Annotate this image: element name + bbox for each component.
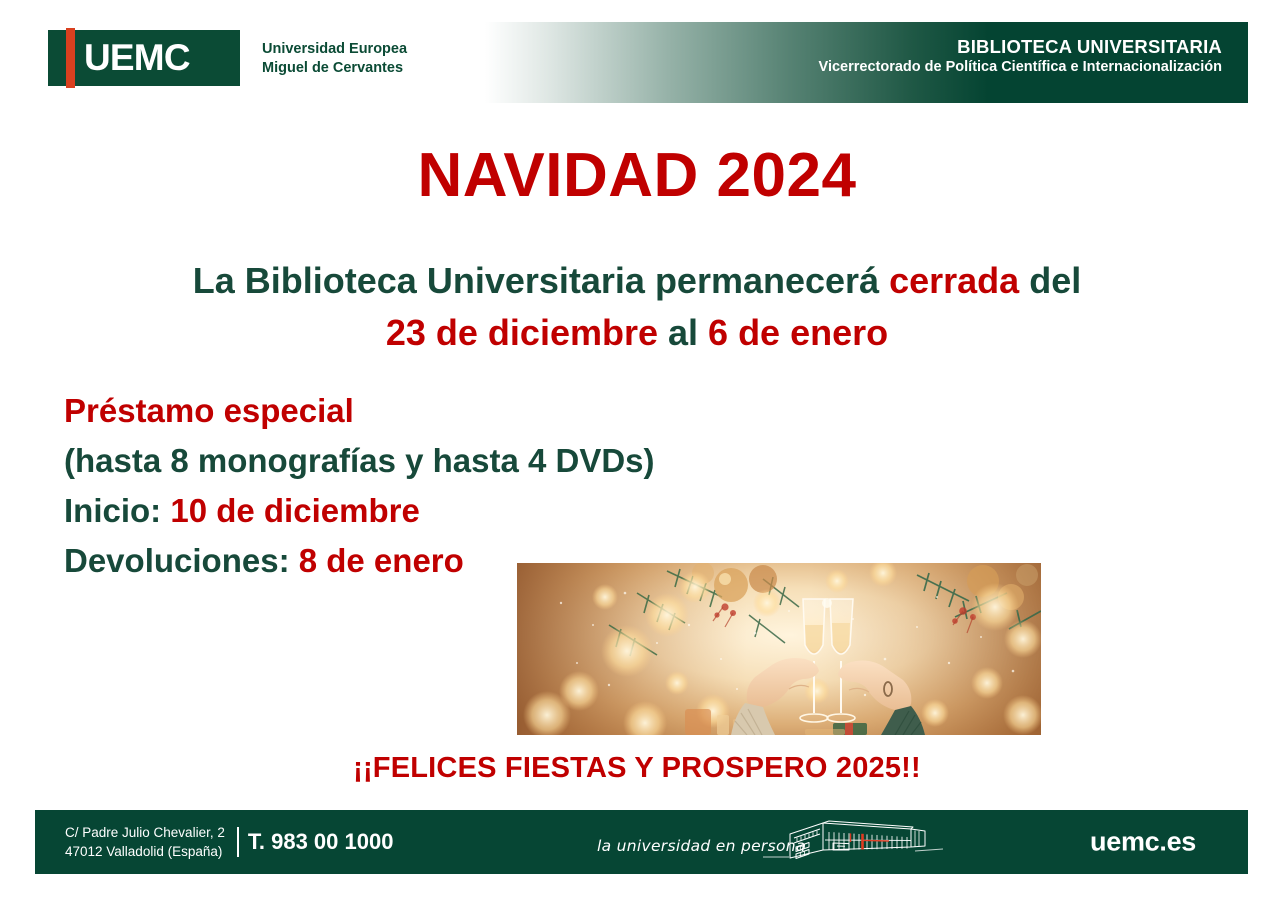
uemc-tagline-line-1: Universidad Europea bbox=[262, 40, 407, 59]
christmas-toast-photo bbox=[517, 563, 1041, 735]
footer-address-line-1: C/ Padre Julio Chevalier, 2 bbox=[65, 823, 225, 842]
uemc-logo[interactable]: UEMC bbox=[48, 30, 240, 86]
logo-green-bar-icon bbox=[52, 30, 59, 86]
logo-red-bar-icon bbox=[66, 28, 75, 88]
footer-phone-number: 983 00 1000 bbox=[271, 829, 393, 854]
holiday-greeting: ¡¡FELICES FIESTAS Y PROSPERO 2025!! bbox=[0, 752, 1274, 785]
closure-end-date: 6 de enero bbox=[708, 312, 888, 353]
loan-start-row: Inicio: 10 de diciembre bbox=[64, 486, 655, 536]
uemc-wordmark: UEMC bbox=[84, 37, 190, 79]
loan-start-label: Inicio: bbox=[64, 492, 170, 529]
footer-address-line-2: 47012 Valladolid (España) bbox=[65, 842, 225, 861]
header-title-sub: Vicerrectorado de Política Científica e … bbox=[819, 59, 1222, 76]
closure-line1-text-a: La Biblioteca Universitaria permanecerá bbox=[193, 260, 889, 301]
poster-canvas: BIBLIOTECA UNIVERSITARIA Vicerrectorado … bbox=[0, 0, 1274, 899]
footer-divider bbox=[237, 827, 239, 857]
closure-line-2: 23 de diciembre al 6 de enero bbox=[0, 307, 1274, 359]
loan-limits: (hasta 8 monografías y hasta 4 DVDs) bbox=[64, 436, 655, 486]
header-title-main: BIBLIOTECA UNIVERSITARIA bbox=[819, 36, 1222, 58]
closure-notice: La Biblioteca Universitaria permanecerá … bbox=[0, 255, 1274, 359]
loan-return-value: 8 de enero bbox=[299, 542, 464, 579]
uemc-tagline-line-2: Miguel de Cervantes bbox=[262, 59, 407, 78]
campus-building-icon bbox=[763, 820, 943, 868]
loan-heading: Préstamo especial bbox=[64, 386, 655, 436]
closure-date-connector: al bbox=[658, 312, 708, 353]
footer-address: C/ Padre Julio Chevalier, 2 47012 Vallad… bbox=[65, 823, 225, 861]
loan-start-value: 10 de diciembre bbox=[170, 492, 419, 529]
closure-line-1: La Biblioteca Universitaria permanecerá … bbox=[0, 255, 1274, 307]
closure-line1-text-b: del bbox=[1019, 260, 1081, 301]
loan-return-label: Devoluciones: bbox=[64, 542, 299, 579]
uemc-logo-box: UEMC bbox=[48, 30, 240, 86]
loan-details: Préstamo especial (hasta 8 monografías y… bbox=[64, 386, 655, 587]
page-title: NAVIDAD 2024 bbox=[0, 140, 1274, 211]
footer-phone-prefix: T. bbox=[248, 829, 265, 854]
uemc-logo-tagline: Universidad Europea Miguel de Cervantes bbox=[262, 40, 407, 77]
closure-line1-highlight: cerrada bbox=[889, 260, 1019, 301]
closure-start-date: 23 de diciembre bbox=[386, 312, 658, 353]
footer-phone[interactable]: T. 983 00 1000 bbox=[248, 829, 394, 855]
footer-contact-block: C/ Padre Julio Chevalier, 2 47012 Vallad… bbox=[65, 823, 393, 861]
header-title-group: BIBLIOTECA UNIVERSITARIA Vicerrectorado … bbox=[819, 36, 1222, 76]
footer-band: C/ Padre Julio Chevalier, 2 47012 Vallad… bbox=[35, 810, 1248, 874]
footer-website[interactable]: uemc.es bbox=[1090, 827, 1196, 858]
